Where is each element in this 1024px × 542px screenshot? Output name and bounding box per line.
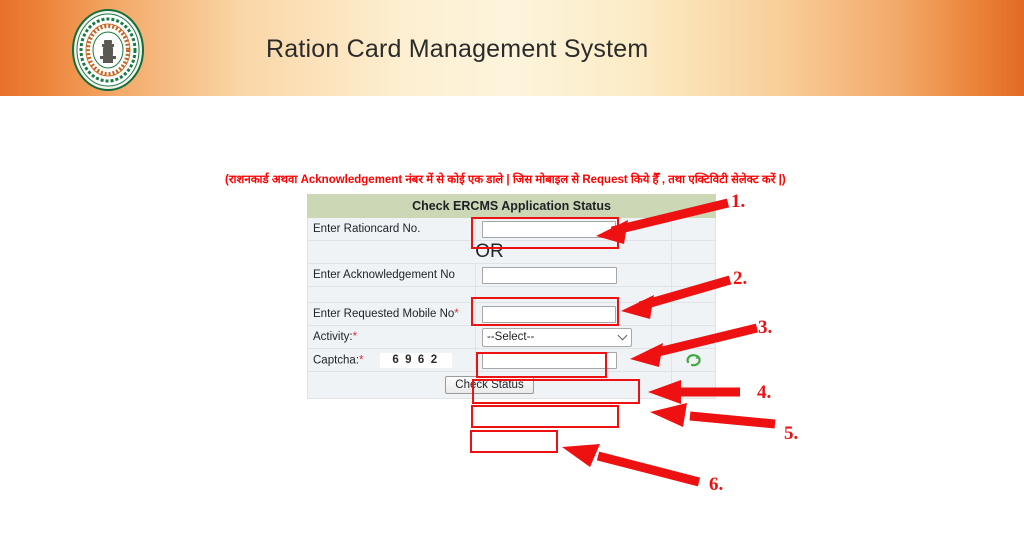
annotation-number-4: 4. [757,382,771,404]
arrow-6 [562,444,699,482]
annotation-arrows [0,0,1024,542]
arrow-1 [596,203,728,244]
arrow-5 [650,403,775,427]
annotation-number-5: 5. [784,423,798,445]
annotation-number-6: 6. [709,474,723,496]
annotation-number-1: 1. [731,191,745,213]
annotation-number-2: 2. [733,268,747,290]
arrow-4 [648,380,740,404]
arrow-2 [621,280,730,319]
annotation-number-3: 3. [758,317,772,339]
arrow-3 [630,328,757,367]
